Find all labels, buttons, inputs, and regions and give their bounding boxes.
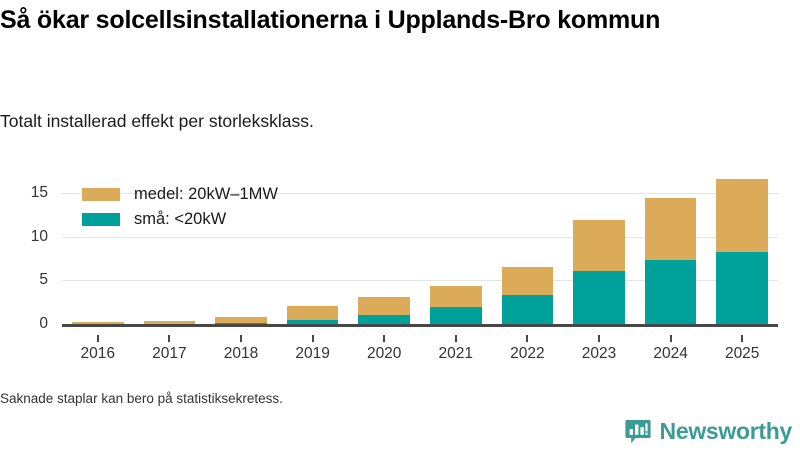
x-axis-tick-mark [741,335,743,342]
x-axis-tick-mark [168,335,170,342]
bar-segment[interactable] [215,323,267,324]
legend-item[interactable]: medel: 20kW–1MW [82,183,278,206]
x-axis-tick-label: 2023 [582,345,616,363]
x-axis-tick-label: 2020 [367,345,401,363]
x-axis-tick-label: 2019 [295,345,329,363]
bar-segment[interactable] [502,295,554,324]
bar-segment[interactable] [502,267,554,295]
bar-segment[interactable] [716,252,768,324]
x-axis-tick-label: 2021 [439,345,473,363]
x-axis-tick-mark [97,335,99,342]
bar-group-2021[interactable] [430,171,482,324]
bar-segment[interactable] [430,307,482,324]
brand-name: Newsworthy [660,418,792,445]
bar-segment[interactable] [358,315,410,324]
page-title: Så ökar solcellsinstallationerna i Uppla… [0,4,720,36]
x-axis-tick-mark [670,335,672,342]
bar-group-2020[interactable] [358,171,410,324]
legend-swatch [82,188,120,201]
x-axis: 2016201720182019202020212022202320242025 [0,335,800,365]
bar-segment[interactable] [144,321,196,324]
bar-segment[interactable] [573,220,625,271]
bar-group-2025[interactable] [716,171,768,324]
bar-segment[interactable] [358,297,410,315]
bar-group-2023[interactable] [573,171,625,324]
x-axis-tick-mark [312,335,314,342]
newsworthy-logo: Newsworthy [625,418,792,445]
bar-group-2019[interactable] [287,171,339,324]
chart-legend: medel: 20kW–1MWsmå: <20kW [82,183,278,233]
bar-group-2024[interactable] [645,171,697,324]
bar-segment[interactable] [645,198,697,260]
x-axis-tick-mark [455,335,457,342]
bar-group-2022[interactable] [502,171,554,324]
chart-subtitle: Totalt installerad effekt per storlekskl… [0,110,740,132]
x-axis-tick-label: 2025 [725,345,759,363]
bar-chart-speech-bubble-icon [625,419,651,445]
bar-segment[interactable] [287,306,339,320]
legend-label: små: <20kW [134,210,226,229]
x-axis-tick-mark [383,335,385,342]
bar-segment[interactable] [645,260,697,324]
x-axis-tick-label: 2022 [510,345,544,363]
chart-page: Så ökar solcellsinstallationerna i Uppla… [0,0,800,450]
x-axis-tick-label: 2017 [152,345,186,363]
legend-label: medel: 20kW–1MW [134,185,278,204]
bar-segment[interactable] [215,317,267,323]
x-axis-tick-mark [598,335,600,342]
bar-segment[interactable] [287,320,339,324]
x-axis-tick-label: 2024 [653,345,687,363]
footnote: Saknade staplar kan bero på statistiksek… [0,391,283,406]
bar-segment[interactable] [716,179,768,252]
bar-segment[interactable] [430,286,482,307]
bar-segment[interactable] [573,271,625,324]
bar-segment[interactable] [72,322,124,324]
x-axis-tick-label: 2016 [81,345,115,363]
x-axis-tick-mark [240,335,242,342]
x-axis-tick-label: 2018 [224,345,258,363]
x-axis-tick-mark [526,335,528,342]
legend-swatch [82,213,120,226]
legend-item[interactable]: små: <20kW [82,208,278,231]
